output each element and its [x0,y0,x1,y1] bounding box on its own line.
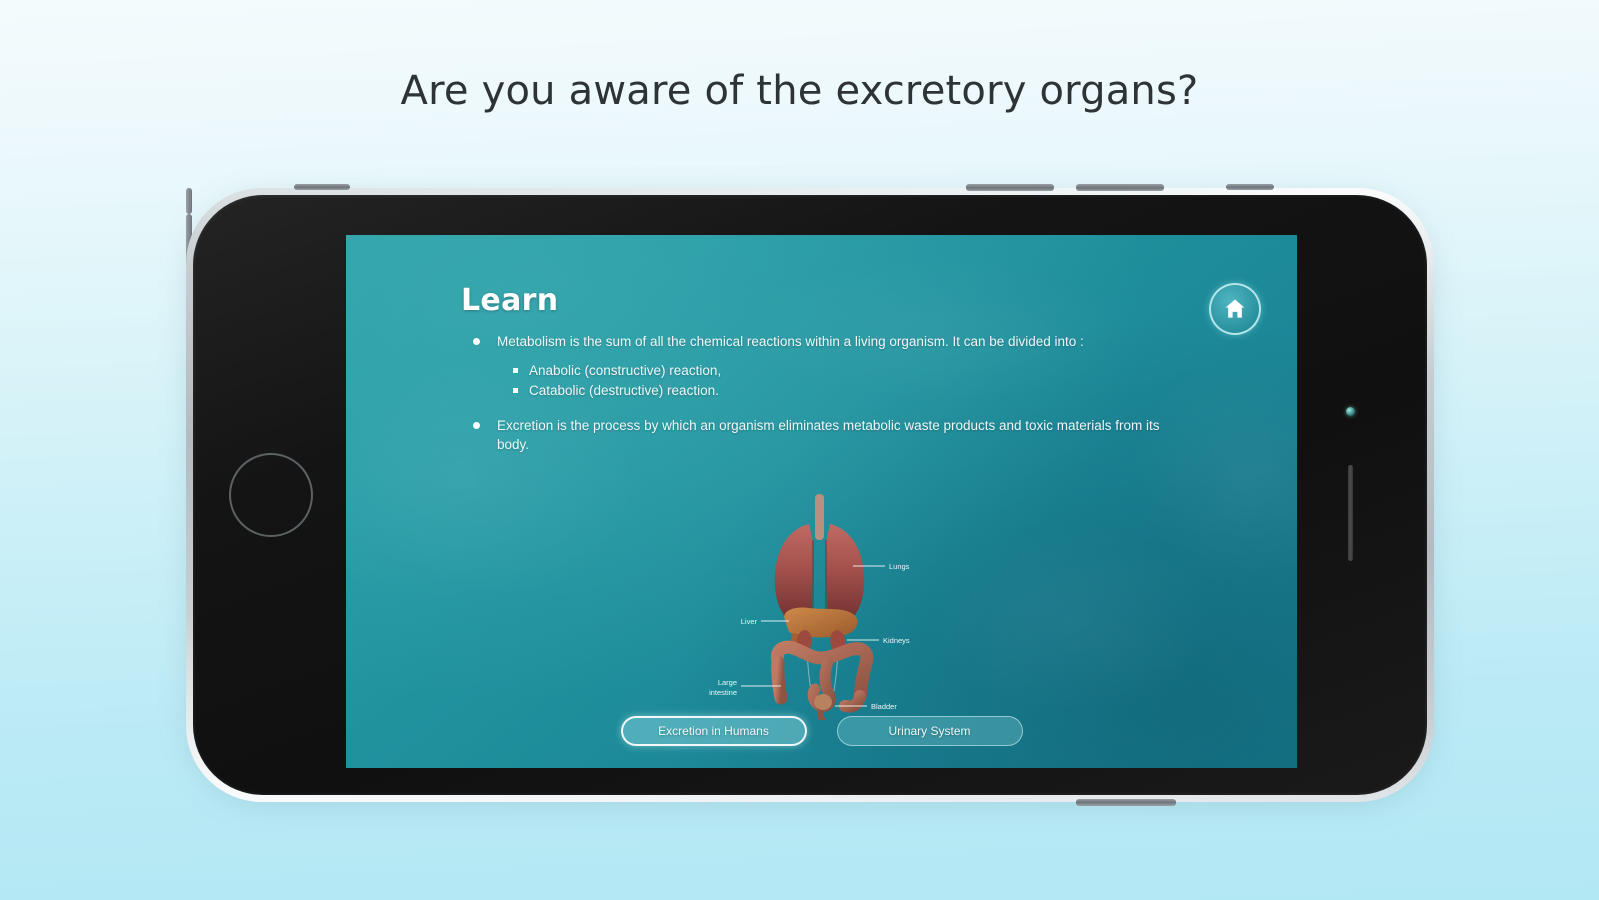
side-accent-top [186,188,192,214]
app-content: Learn Metabolism is the sum of all the c… [346,235,1297,768]
app-home-button[interactable] [1209,283,1261,335]
topic-nav-bar: Excretion in Humans Urinary System [346,716,1297,746]
phone-mockup: Learn Metabolism is the sum of all the c… [186,188,1434,802]
bullet-item-excretion: Excretion is the process by which an org… [461,416,1161,454]
organ-label-bladder: Bladder [871,702,897,711]
volume-down-button[interactable] [1076,184,1164,191]
organ-label-lungs: Lungs [889,562,910,571]
phone-screen: Learn Metabolism is the sum of all the c… [346,235,1297,768]
bullet-item-metabolism: Metabolism is the sum of all the chemica… [461,332,1161,402]
hardware-home-button[interactable] [229,453,313,537]
metabolism-sub-list: Anabolic (constructive) reaction, Catabo… [497,361,1161,402]
nav-button-urinary-system[interactable]: Urinary System [837,716,1023,746]
sim-tray [294,184,350,190]
sub-bullet-catabolic: Catabolic (destructive) reaction. [511,381,1161,401]
sub-bullet-text: Catabolic (destructive) reaction. [529,383,719,398]
learn-bullet-list: Metabolism is the sum of all the chemica… [461,332,1257,454]
nav-button-excretion-in-humans[interactable]: Excretion in Humans [621,716,807,746]
earpiece-speaker [1348,465,1353,561]
organ-label-kidneys: Kidneys [883,636,910,645]
mute-switch[interactable] [1226,184,1274,190]
nav-button-label: Urinary System [888,724,970,738]
section-title-learn: Learn [461,283,1257,318]
excretory-organs-diagram: Lungs Liver Kidneys Large intestine Blad… [657,490,987,720]
home-icon [1222,296,1248,322]
power-button[interactable] [1076,799,1176,806]
sub-bullet-anabolic: Anabolic (constructive) reaction, [511,361,1161,381]
organ-label-liver: Liver [740,617,757,626]
page-title: Are you aware of the excretory organs? [0,68,1599,114]
volume-up-button[interactable] [966,184,1054,191]
nav-button-label: Excretion in Humans [658,724,769,738]
bullet-text: Excretion is the process by which an org… [497,418,1160,452]
bullet-text: Metabolism is the sum of all the chemica… [497,334,1084,349]
phone-body: Learn Metabolism is the sum of all the c… [193,195,1427,795]
front-camera-icon [1346,407,1355,416]
organ-label-large-intestine-line1: Large [717,678,736,687]
sub-bullet-text: Anabolic (constructive) reaction, [529,363,721,378]
organ-label-large-intestine-line2: intestine [709,688,737,697]
